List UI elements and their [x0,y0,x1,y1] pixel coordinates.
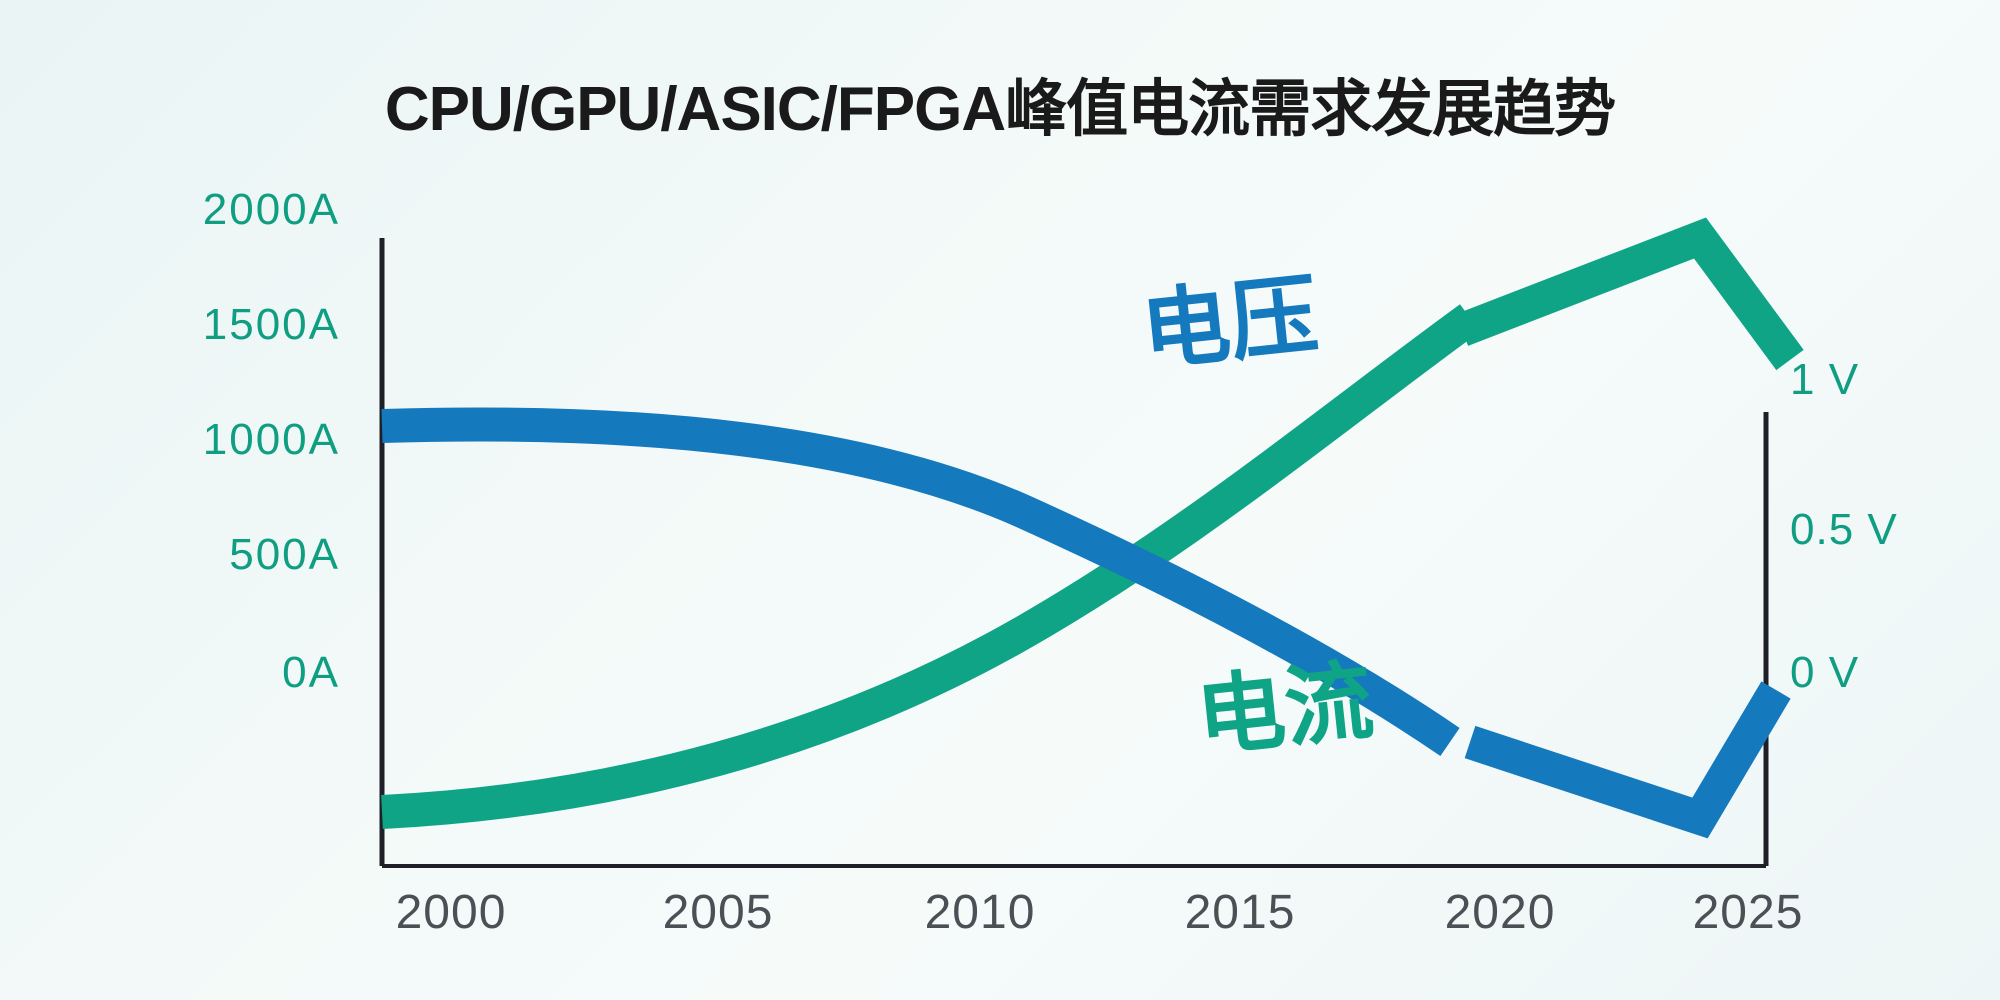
ytick-left-500a: 500A [229,530,340,580]
current-arrow-chevron-icon [1462,238,1790,360]
series-label-voltage: 电压 [1135,244,1323,389]
voltage-arrow-chevron-icon [1470,690,1776,818]
ytick-right-0v: 0 V [1790,648,1859,698]
xtick-2000: 2000 [351,885,551,940]
ytick-right-05v: 0.5 V [1790,505,1898,555]
ytick-left-1500a: 1500A [203,300,340,350]
ytick-left-0a: 0A [282,648,340,698]
ytick-left-2000a: 2000A [203,185,340,235]
chart-canvas: CPU/GPU/ASIC/FPGA峰值电流需求发展趋势 2000A 1500A … [0,0,2000,1000]
xtick-2025: 2025 [1648,885,1848,940]
ytick-right-1v: 1 V [1790,355,1859,405]
xtick-2015: 2015 [1140,885,1340,940]
xtick-2005: 2005 [618,885,818,940]
series-label-current: 电流 [1190,630,1378,775]
xtick-2020: 2020 [1400,885,1600,940]
xtick-2010: 2010 [880,885,1080,940]
ytick-left-1000a: 1000A [203,415,340,465]
chart-plot-area [0,0,2000,1000]
